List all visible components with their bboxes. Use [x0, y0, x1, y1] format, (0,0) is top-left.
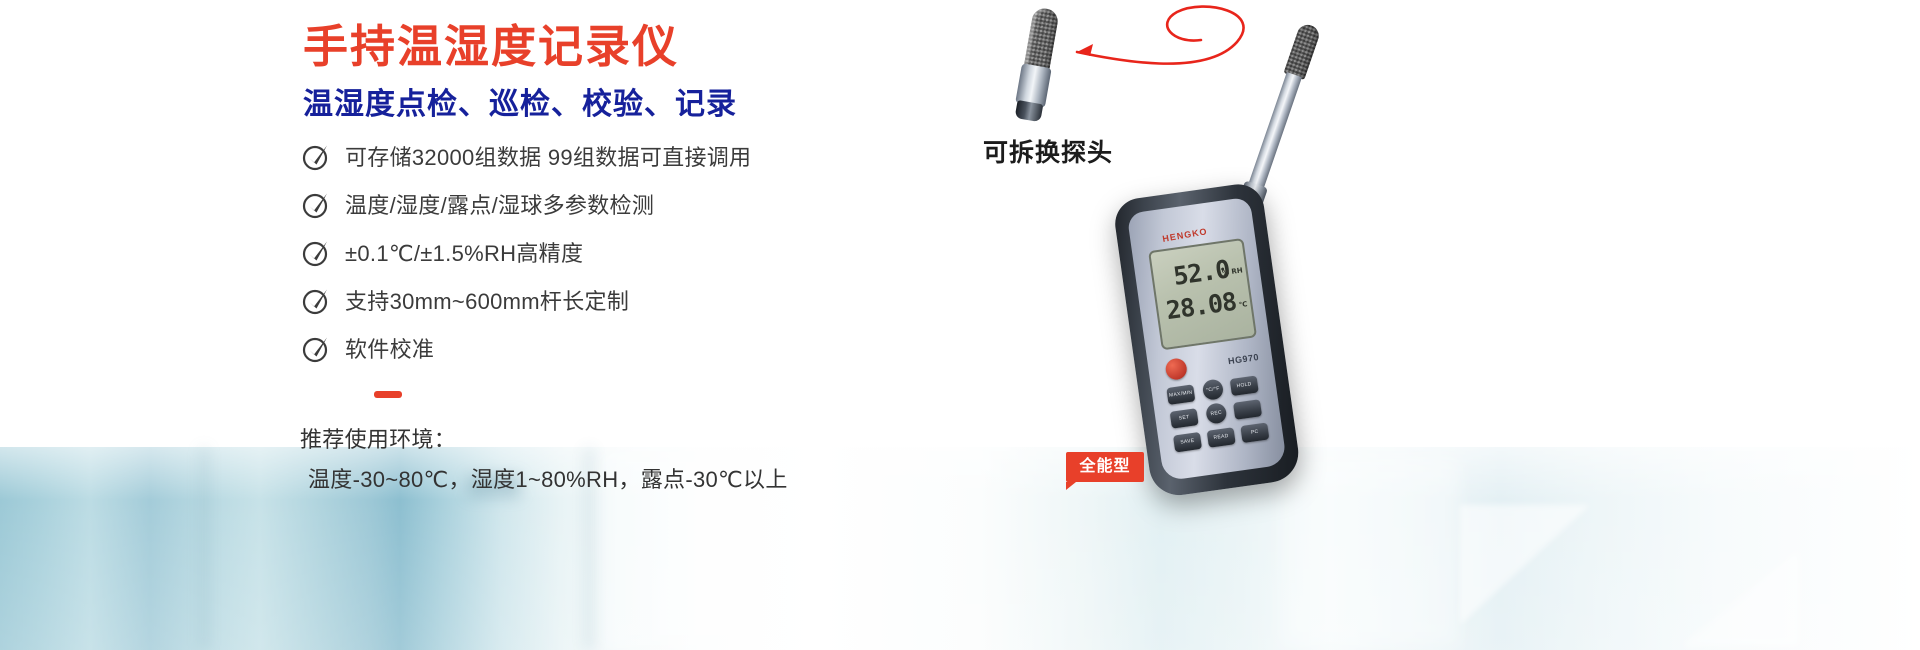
check-circle-icon: [303, 239, 330, 266]
list-item: 温度/湿度/露点/湿球多参数检测: [303, 181, 751, 227]
product-image: HENGKO 52.0 % RH 28.08 ℃ HG970 MAX/MIN °…: [980, 0, 1400, 520]
detachable-probe: [1000, 4, 1075, 127]
product-banner: 手持温湿度记录仪 温湿度点检、巡检、校验、记录 可存储32000组数据 99组数…: [0, 0, 1920, 650]
rod-sintered-mesh: [1283, 22, 1321, 80]
list-item: 软件校准: [303, 325, 751, 371]
check-circle-icon: [303, 287, 330, 314]
status-badge: 全能型: [1066, 452, 1144, 482]
feature-list: 可存储32000组数据 99组数据可直接调用 温度/湿度/露点/湿球多参数检测 …: [303, 133, 751, 373]
check-circle-icon: [303, 191, 330, 218]
band-glass-triangle: [1680, 547, 1800, 647]
usage-note-heading: 推荐使用环境：: [300, 420, 788, 460]
key-nav[interactable]: [1233, 399, 1262, 420]
lcd-temperature-unit: ℃: [1238, 300, 1248, 309]
list-item: 可存储32000组数据 99组数据可直接调用: [303, 133, 751, 179]
brand-logo: HENGKO: [1162, 226, 1209, 244]
key-set[interactable]: SET: [1170, 408, 1199, 429]
list-item-label: 软件校准: [345, 332, 434, 364]
key-read[interactable]: READ: [1207, 427, 1236, 448]
badge-notch: [1066, 482, 1076, 490]
key-save[interactable]: SAVE: [1173, 432, 1202, 453]
key-maxmin[interactable]: MAX/MIN: [1166, 384, 1195, 405]
lab-background-band: [0, 447, 1920, 650]
list-item-label: ±0.1℃/±1.5%RH高精度: [345, 236, 583, 268]
lcd-display: 52.0 % RH 28.08 ℃: [1148, 238, 1257, 350]
list-item-label: 可存储32000组数据 99组数据可直接调用: [345, 140, 751, 172]
key-pc[interactable]: PC: [1240, 422, 1269, 443]
band-shadow: [200, 447, 208, 650]
lcd-temperature-value: 28.08: [1164, 287, 1238, 325]
power-button[interactable]: [1164, 357, 1188, 381]
key-rec[interactable]: REC: [1205, 402, 1228, 425]
status-badge-label: 全能型: [1066, 452, 1144, 482]
lcd-humidity-unit: % RH: [1222, 266, 1244, 277]
check-circle-icon: [303, 143, 330, 170]
band-glass-triangle: [1460, 505, 1590, 625]
list-item: 支持30mm~600mm杆长定制: [303, 277, 751, 323]
probe-connector: [1015, 100, 1044, 122]
page-subtitle: 温湿度点检、巡检、校验、记录: [303, 79, 737, 123]
key-celsius-fahrenheit[interactable]: °C/°F: [1202, 378, 1225, 401]
list-item: ±0.1℃/±1.5%RH高精度: [303, 229, 751, 275]
key-hold[interactable]: HOLD: [1230, 375, 1259, 396]
usage-note: 推荐使用环境： 温度-30~80℃，湿度1~80%RH，露点-30℃以上: [300, 420, 788, 500]
list-item-label: 支持30mm~600mm杆长定制: [345, 284, 629, 316]
red-dash-divider: [374, 391, 402, 398]
list-item-label: 温度/湿度/露点/湿球多参数检测: [345, 188, 654, 220]
page-title: 手持温湿度记录仪: [303, 10, 679, 75]
probe-sintered-mesh: [1023, 6, 1059, 72]
usage-note-detail: 温度-30~80℃，湿度1~80%RH，露点-30℃以上: [300, 460, 788, 500]
check-circle-icon: [303, 335, 330, 362]
rod-shaft: [1248, 72, 1302, 191]
model-number: HG970: [1227, 352, 1259, 366]
